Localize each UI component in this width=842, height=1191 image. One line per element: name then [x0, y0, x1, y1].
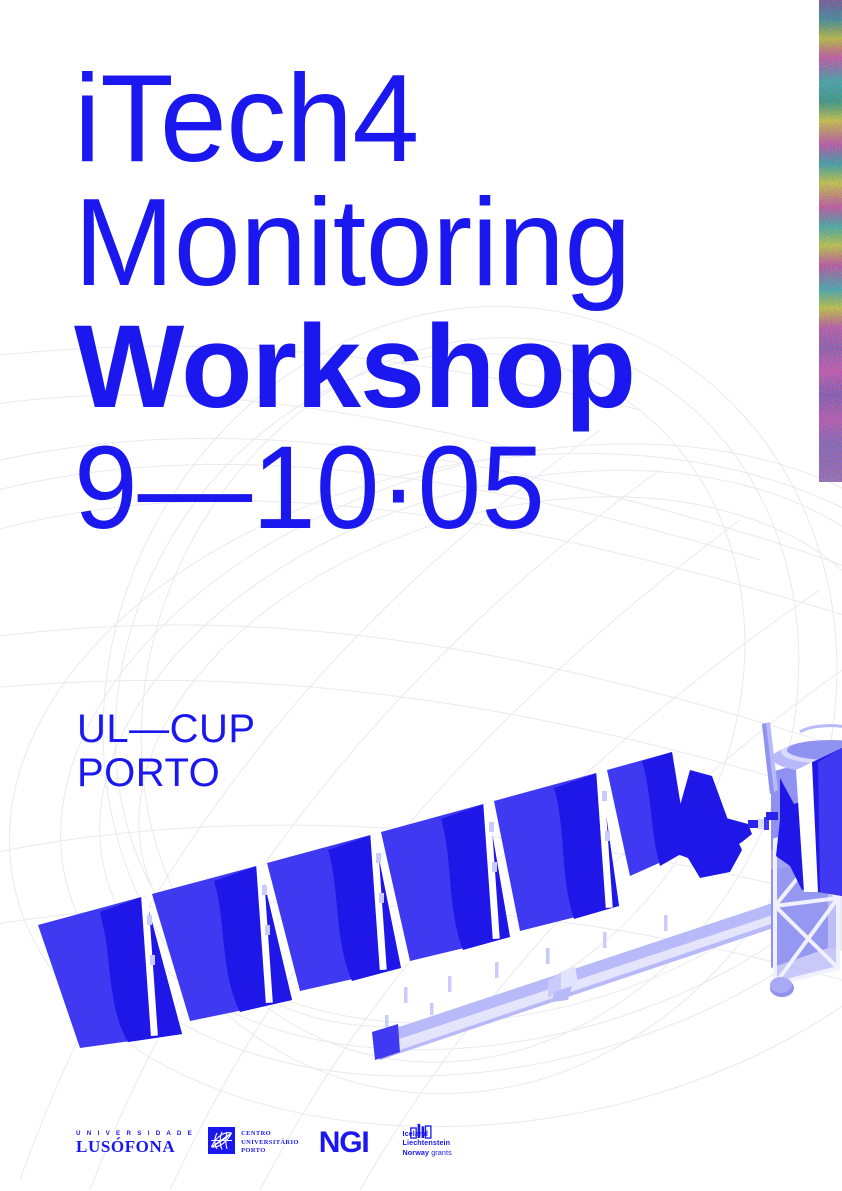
iridescent-strip: [819, 0, 842, 482]
solar-array-right: [796, 748, 842, 896]
logo-centro-universitario-porto: CENTRO UNIVERSITÁRIO PORTO: [208, 1127, 299, 1159]
satellite-body: [762, 700, 842, 1031]
title-line-workshop: Workshop: [74, 306, 807, 428]
title-line-itech4: iTech4: [74, 58, 792, 180]
cup-line-3: PORTO: [241, 1147, 299, 1155]
solar-array-left: [38, 752, 688, 1048]
antenna-horn-right: [766, 778, 842, 890]
eea-bars-emblem-icon: [410, 1123, 432, 1144]
cup-globe-emblem-icon: [208, 1127, 235, 1159]
logo-ngi: NGI: [319, 1128, 369, 1158]
satellite-boom: [372, 880, 842, 1060]
title-line-dates: 9—10·05: [74, 428, 792, 548]
antenna-horn-left: [660, 770, 769, 878]
sponsor-logo-bar: U N I V E R S I D A D E LUSÓFONA: [76, 1117, 478, 1169]
cup-wordmark: CENTRO UNIVERSITÁRIO PORTO: [241, 1130, 299, 1155]
satellite-truss: [770, 828, 838, 997]
headline-block: iTech4 Monitoring Workshop 9—10·05: [74, 58, 814, 548]
cup-line-2: UNIVERSITÁRIO: [241, 1139, 299, 1147]
lusofona-wordmark: LUSÓFONA: [76, 1138, 175, 1156]
logo-eea-grants: Iceland Liechtenstein Norway grants: [403, 1129, 478, 1157]
title-line-monitoring: Monitoring: [74, 180, 792, 306]
eea-line-norway: Norway: [403, 1148, 430, 1157]
logo-universidade-lusofona: U N I V E R S I D A D E LUSÓFONA: [76, 1130, 194, 1156]
venue-line-city: PORTO: [77, 751, 256, 795]
venue-line-institutions: UL—CUP: [77, 707, 256, 751]
eea-line-grants: grants: [431, 1148, 452, 1157]
venue-block: UL—CUP PORTO: [77, 707, 256, 795]
boom-fixture: [548, 966, 578, 1002]
cup-line-1: CENTRO: [241, 1130, 299, 1138]
poster-canvas: iTech4 Monitoring Workshop 9—10·05 UL—CU…: [0, 0, 842, 1191]
